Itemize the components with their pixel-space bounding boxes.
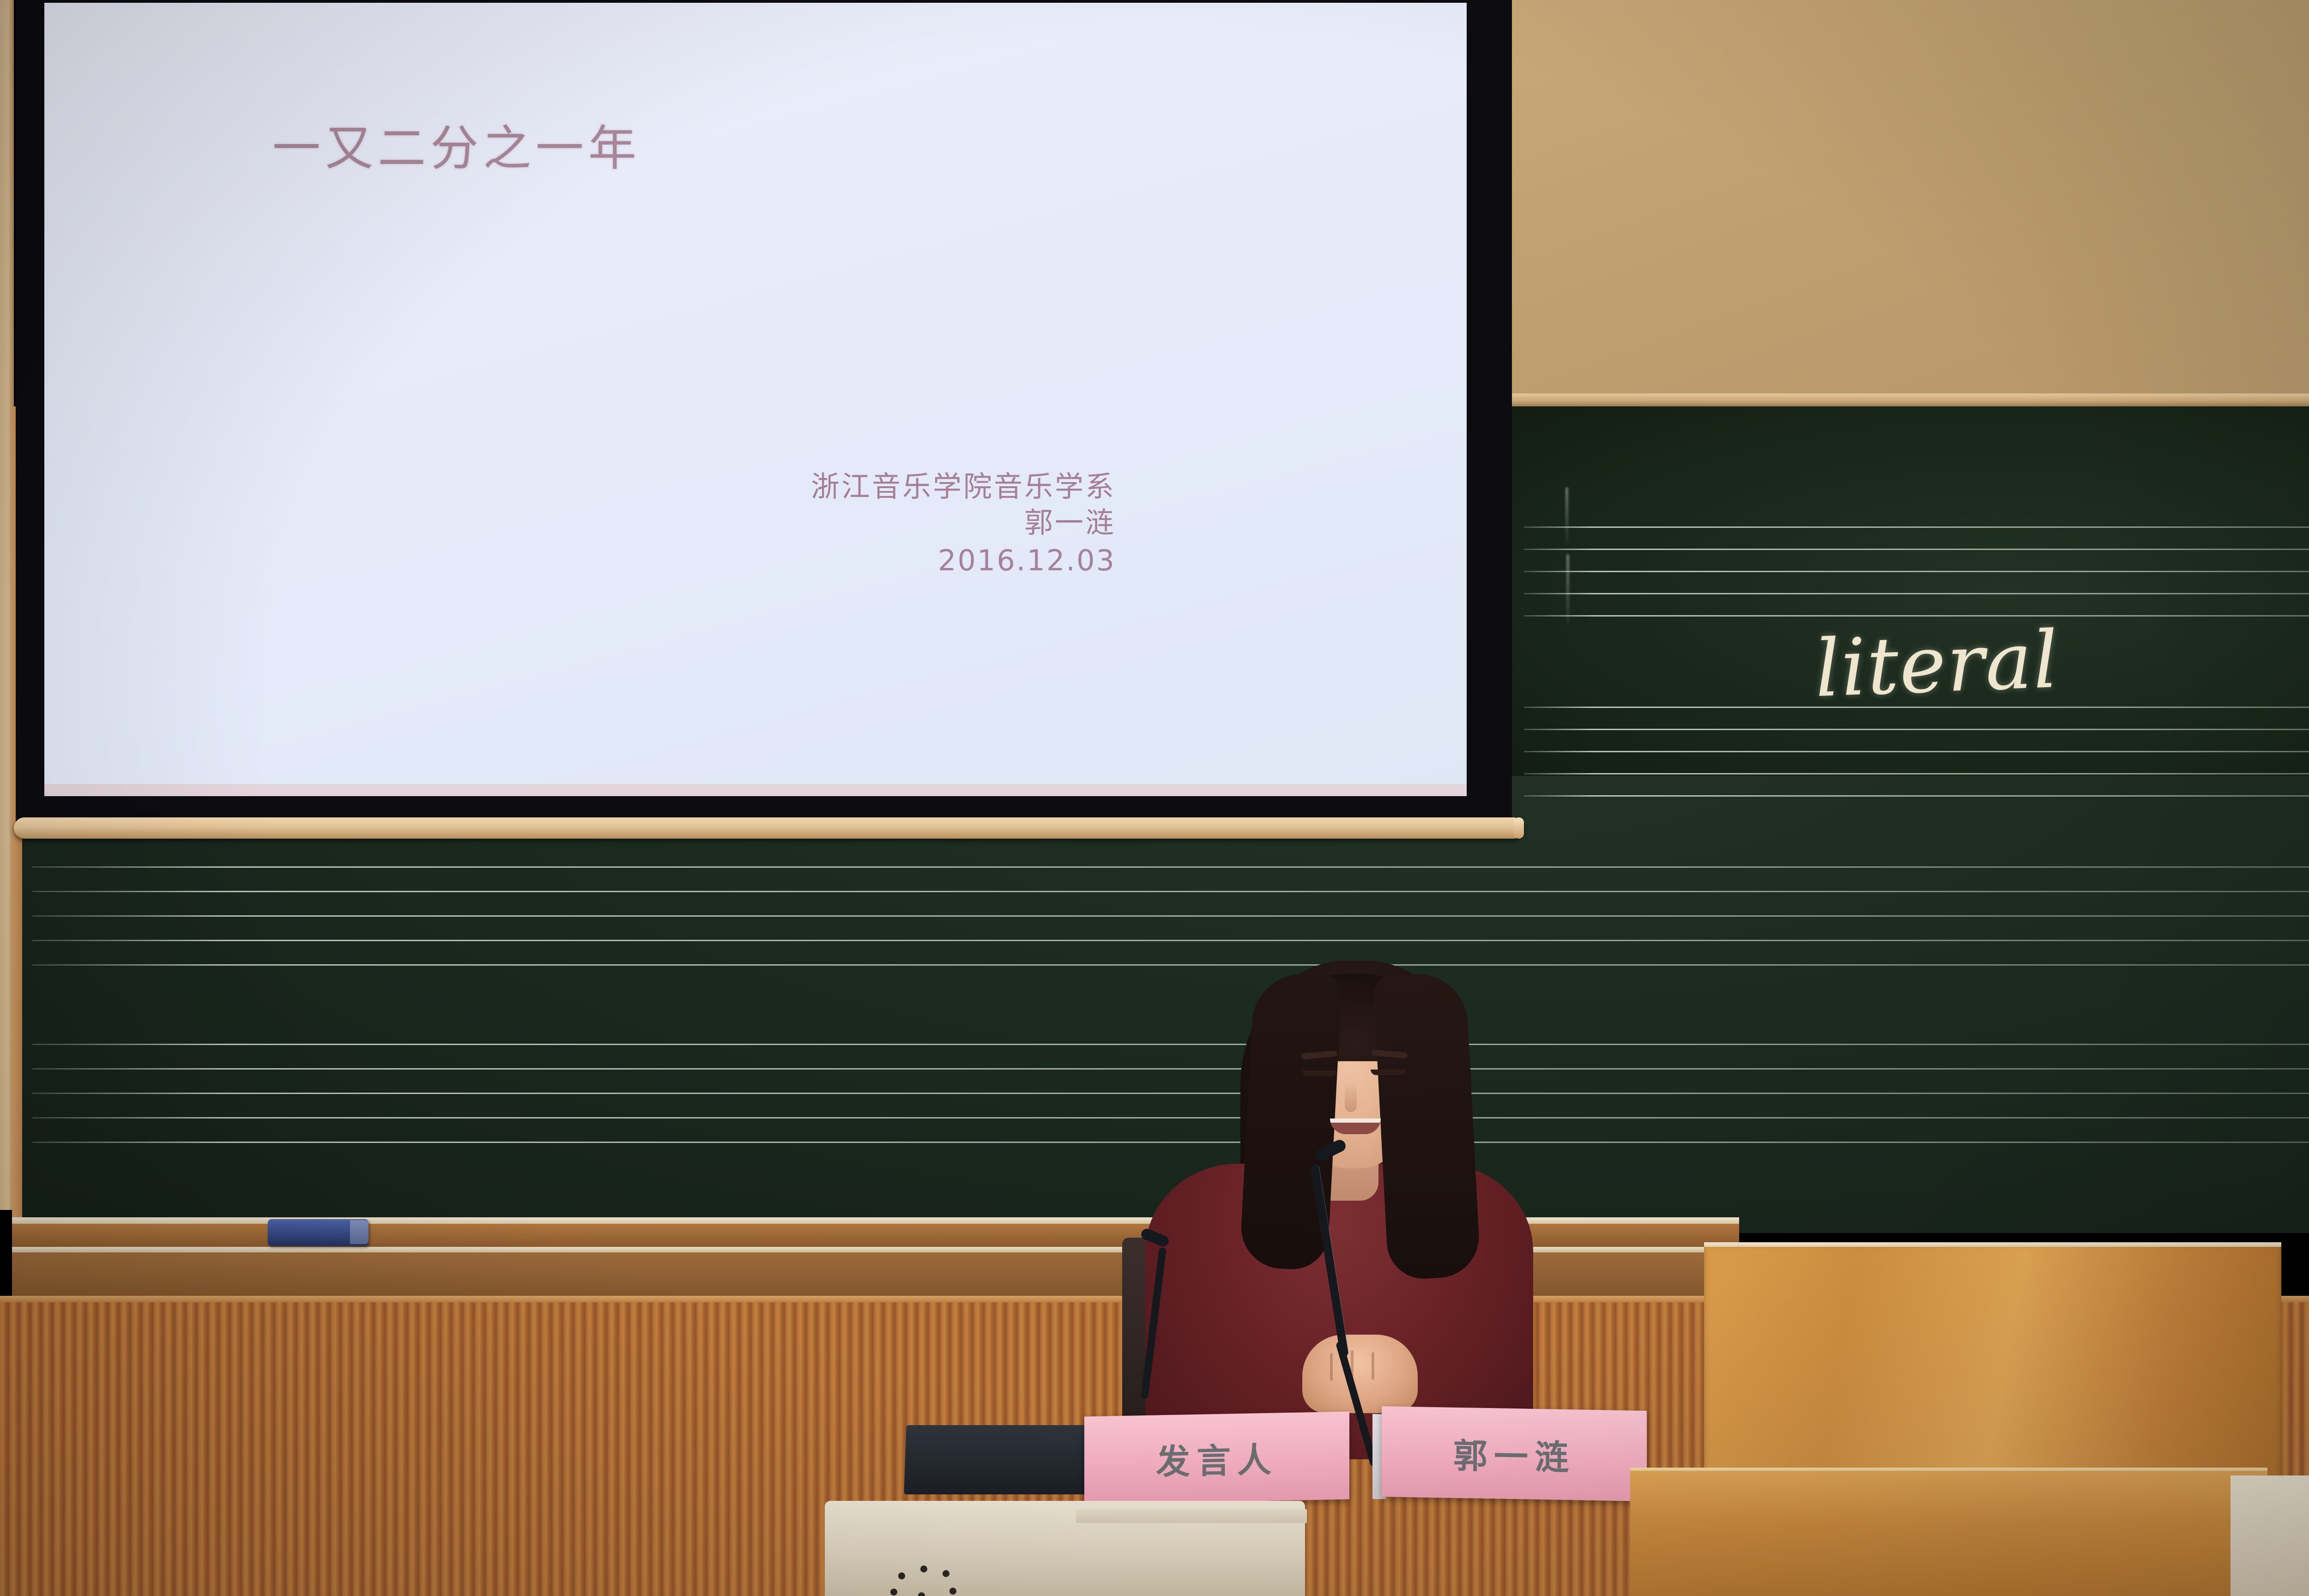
placard-speaker-role: 发言人 <box>1084 1411 1349 1504</box>
front-console-step <box>1076 1509 1307 1523</box>
upper-wall <box>1510 0 2309 406</box>
hair-strand-right <box>1373 971 1481 1281</box>
music-staff-mid-right <box>1524 707 2309 804</box>
presenter-figure <box>1131 937 1547 1455</box>
projection-screen: 一又二分之一年 浙江音乐学院音乐学系 郭一涟 2016.12.03 <box>44 3 1467 792</box>
desk-front-panel <box>1630 1471 2267 1596</box>
slide-date: 2016.12.03 <box>811 541 1116 580</box>
console-vent-hole <box>949 1588 956 1595</box>
wood-panel-back <box>1704 1247 2281 1482</box>
blackboard-eraser[interactable] <box>268 1219 369 1246</box>
console-vent-hole <box>943 1570 949 1577</box>
nose <box>1345 1082 1357 1112</box>
console-vent-hole <box>920 1566 927 1572</box>
console-vent-hole <box>890 1589 897 1596</box>
slide-organization: 浙江音乐学院音乐学系 <box>811 469 1116 504</box>
slide-presenter: 郭一涟 <box>811 504 1116 542</box>
desk-right-panel <box>2230 1475 2309 1596</box>
projection-screen-roller-bar[interactable] <box>14 817 1524 839</box>
console-vent-hole <box>898 1572 905 1579</box>
mouth <box>1330 1118 1381 1134</box>
placard-speaker-role-label: 发言人 <box>1156 1432 1278 1484</box>
chalk-smudge <box>1566 487 1568 543</box>
slide-metadata: 浙江音乐学院音乐学系 郭一涟 2016.12.03 <box>811 469 1116 580</box>
wall-molding <box>1510 393 2309 406</box>
placard-speaker-name: 郭一涟 <box>1382 1406 1647 1501</box>
slide-title: 一又二分之一年 <box>272 109 641 179</box>
music-staff-upper-right <box>1524 526 2309 623</box>
roller-end-cap <box>1514 817 1524 839</box>
console-vent-hole <box>918 1592 925 1596</box>
chalk-smudge <box>1566 554 1569 623</box>
eye-right <box>1371 1070 1406 1075</box>
classroom-scene: literal 一又二分之一年 浙江音乐学院音乐学系 郭一涟 2016.12.0… <box>0 0 2309 1596</box>
eye-left <box>1302 1070 1337 1076</box>
chalkboard-handwriting: literal <box>1813 614 2061 715</box>
placard-speaker-name-label: 郭一涟 <box>1453 1428 1575 1480</box>
projection-screen-bottom-band <box>44 784 1467 796</box>
eraser-cap <box>350 1220 369 1244</box>
